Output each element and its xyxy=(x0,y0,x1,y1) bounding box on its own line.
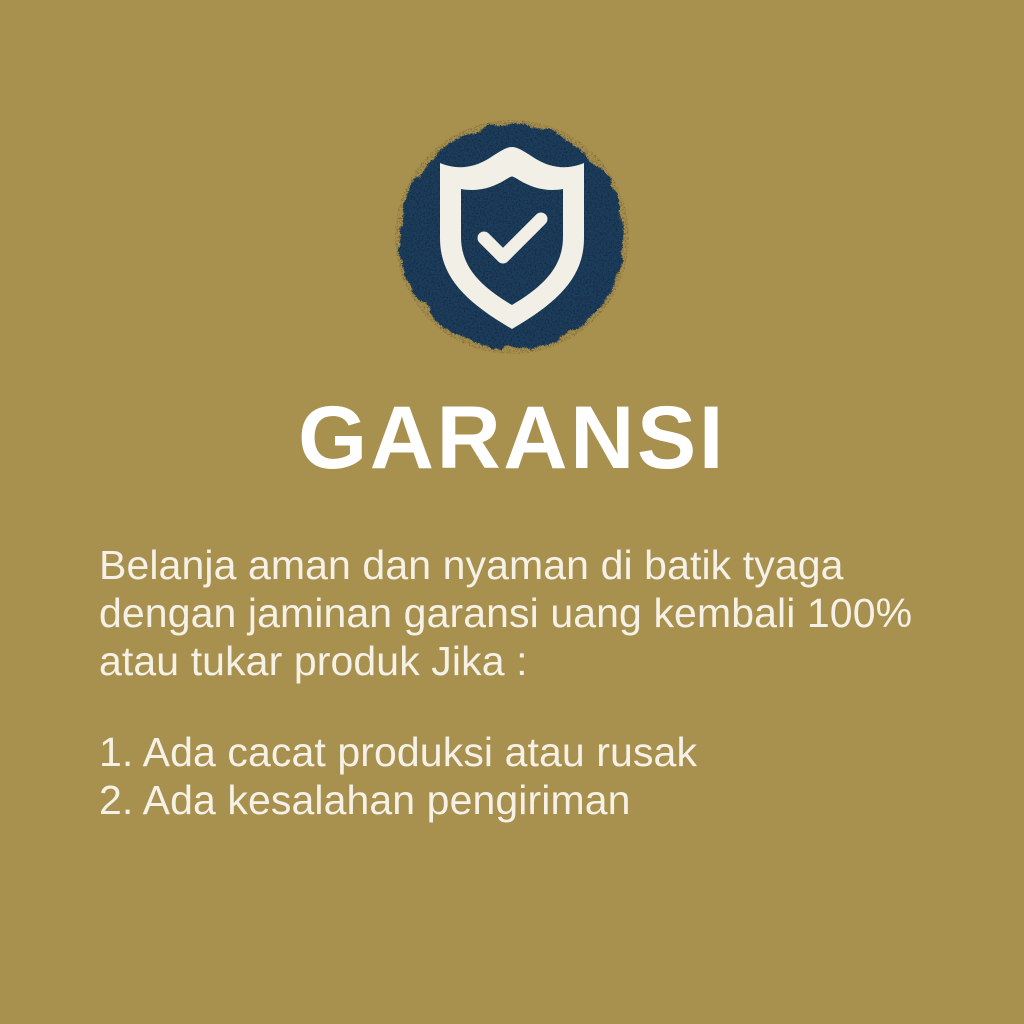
conditions-list: 1. Ada cacat produksi atau rusak 2. Ada … xyxy=(99,728,979,824)
navy-grunge-circle xyxy=(395,118,629,356)
list-item: 1. Ada cacat produksi atau rusak xyxy=(99,728,979,776)
body-content: Belanja aman dan nyaman di batik tyaga d… xyxy=(99,541,979,824)
intro-paragraph: Belanja aman dan nyaman di batik tyaga d… xyxy=(99,541,979,685)
page-title: GARANSI xyxy=(0,392,1024,482)
garansi-card: GARANSI Belanja aman dan nyaman di batik… xyxy=(0,0,1024,1024)
badge-container xyxy=(0,118,1024,356)
list-item: 2. Ada kesalahan pengiriman xyxy=(99,776,979,824)
